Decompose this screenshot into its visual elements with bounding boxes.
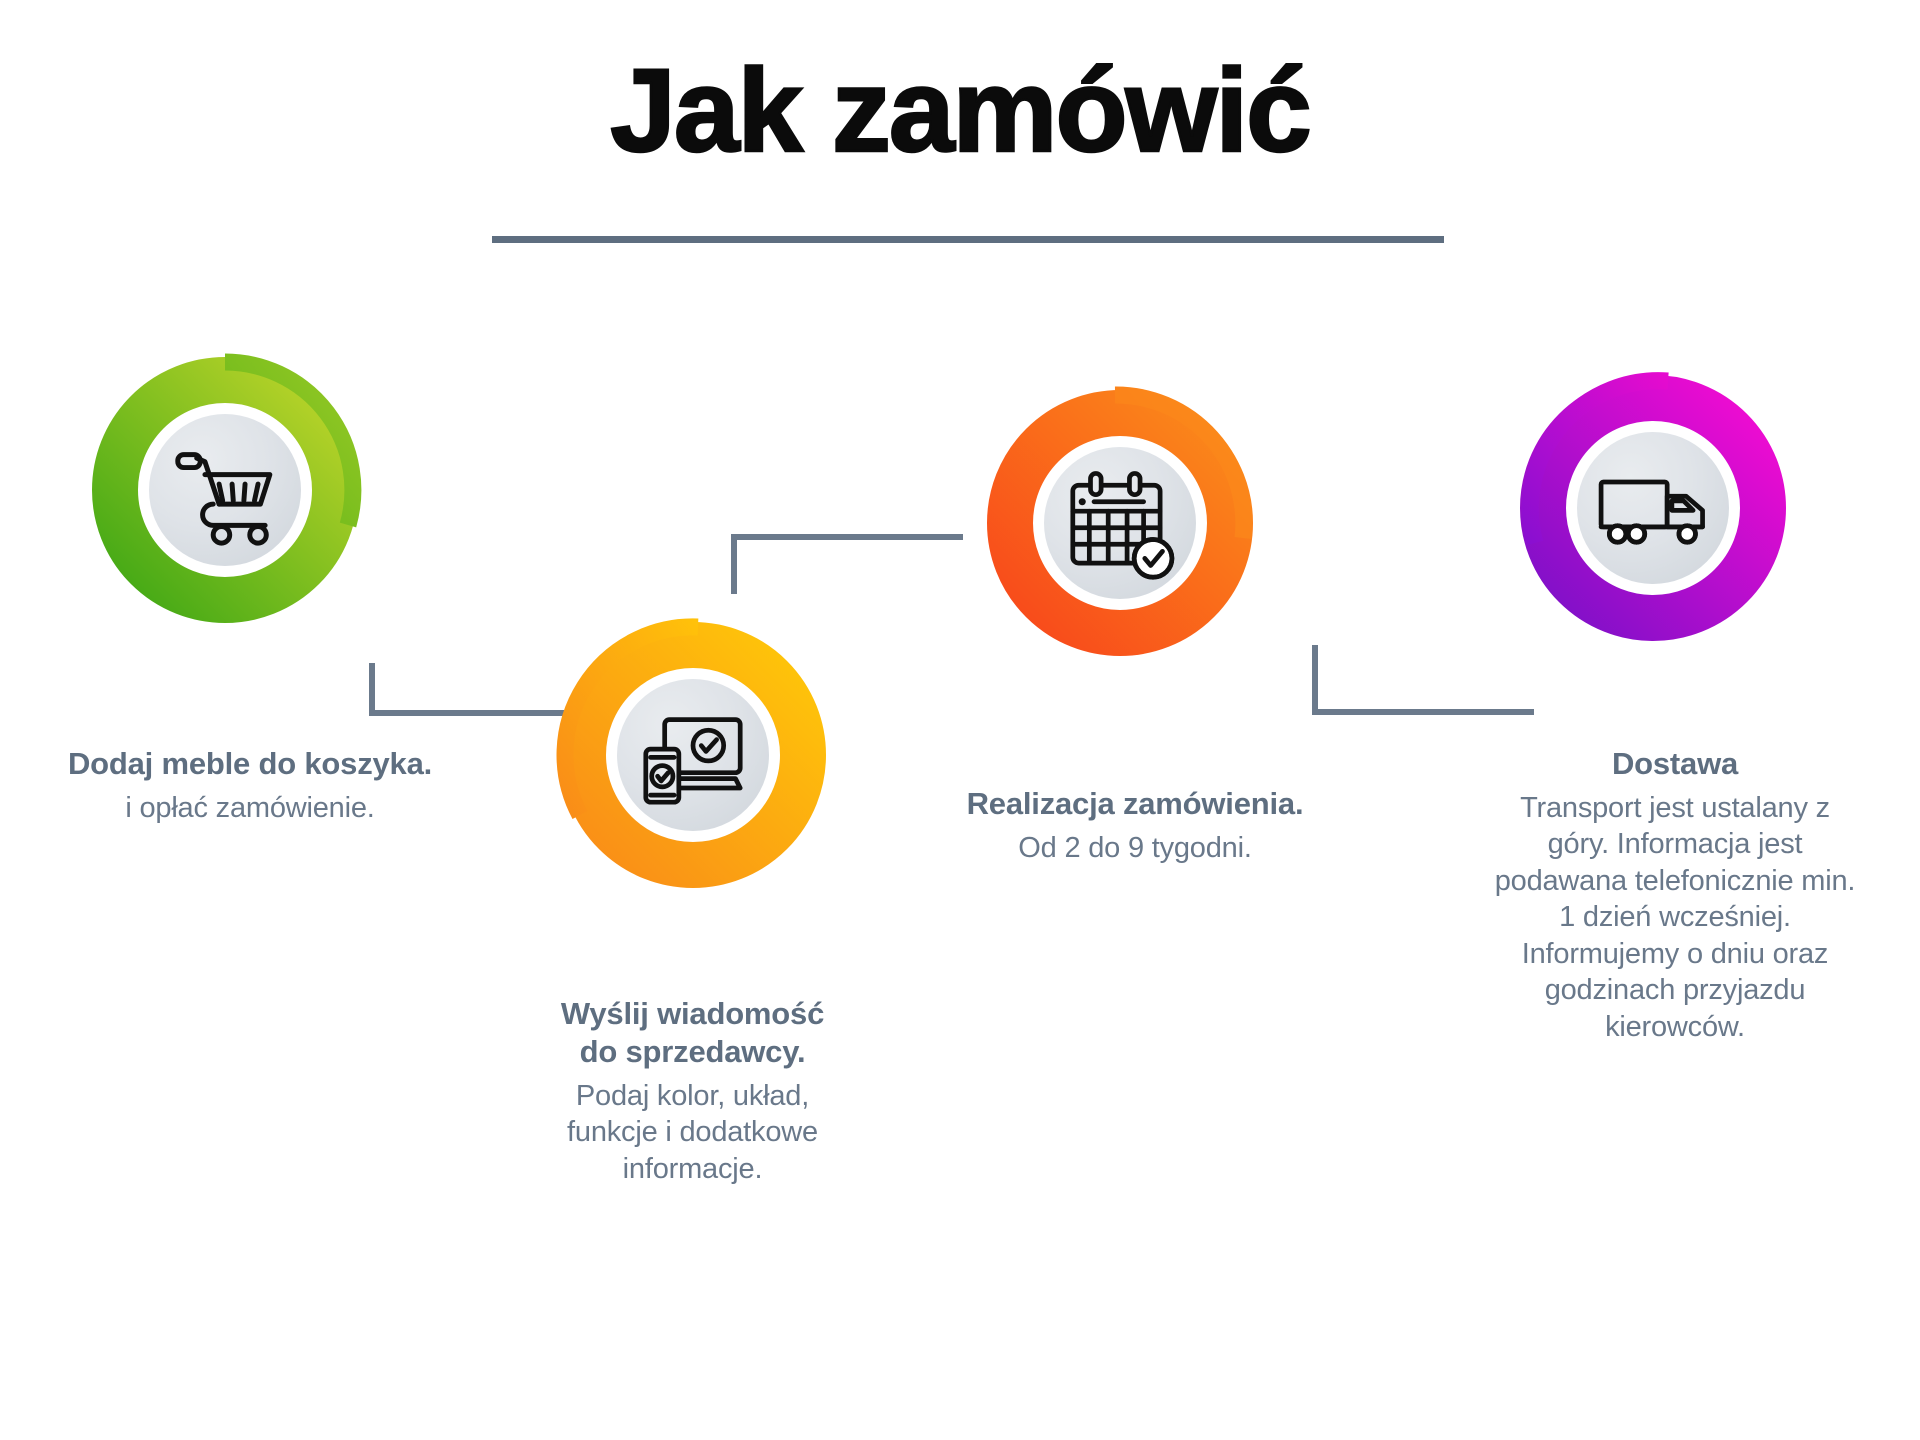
- delivery-truck-icon: [1594, 449, 1712, 567]
- connector-1-2-vertical: [369, 663, 375, 716]
- step-2-title: Wyślij wiadomość do sprzedawcy.: [545, 995, 840, 1071]
- calendar-check-icon: [1061, 464, 1179, 582]
- step-3-caption: Realizacja zamówienia. Od 2 do 9 tygodni…: [965, 785, 1305, 866]
- step-4-title: Dostawa: [1490, 745, 1860, 783]
- step-1-title: Dodaj meble do koszyka.: [55, 745, 445, 783]
- step-2-caption: Wyślij wiadomość do sprzedawcy. Podaj ko…: [545, 995, 840, 1187]
- step-2-icon-core: [617, 679, 769, 831]
- connector-3-4-vertical: [1312, 645, 1318, 715]
- shopping-cart-icon: [166, 431, 284, 549]
- step-4-caption: Dostawa Transport jest ustalany z góry. …: [1490, 745, 1860, 1046]
- step-1-ring: [80, 345, 370, 635]
- step-4-icon-core: [1577, 432, 1729, 584]
- connector-3-4-horizontal: [1312, 709, 1534, 715]
- step-4-ring: [1508, 363, 1798, 653]
- step-4-body: Transport jest ustalany z góry. Informac…: [1490, 790, 1860, 1046]
- step-1-caption: Dodaj meble do koszyka. i opłać zamówien…: [55, 745, 445, 826]
- step-2-ring: [548, 610, 838, 900]
- connector-2-3-vertical: [731, 534, 737, 594]
- step-3-title: Realizacja zamówienia.: [965, 785, 1305, 823]
- step-2-body: Podaj kolor, układ, funkcje i dodatkowe …: [545, 1078, 840, 1188]
- devices-check-icon: [634, 696, 752, 814]
- process-diagram: Dodaj meble do koszyka. i opłać zamówien…: [0, 0, 1920, 1440]
- step-1-icon-core: [149, 414, 301, 566]
- connector-1-2-horizontal: [369, 710, 569, 716]
- step-1-body: i opłać zamówienie.: [55, 790, 445, 827]
- step-3-icon-core: [1044, 447, 1196, 599]
- connector-2-3-horizontal: [731, 534, 963, 540]
- step-3-body: Od 2 do 9 tygodni.: [965, 830, 1305, 867]
- step-3-ring: [975, 378, 1265, 668]
